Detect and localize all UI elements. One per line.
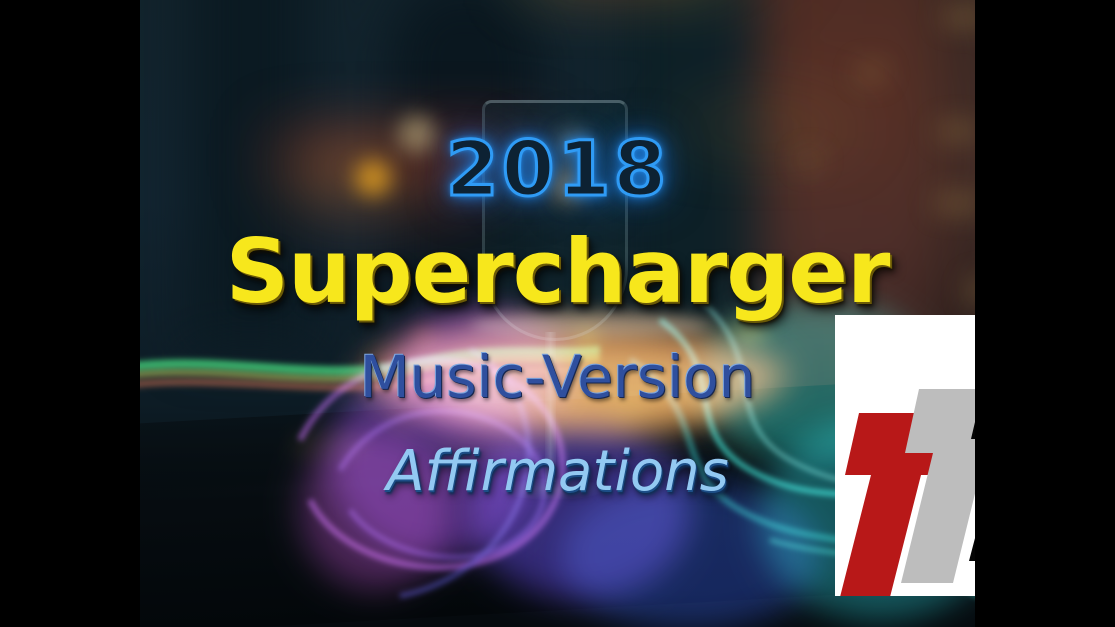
pillarbox-left <box>0 0 140 627</box>
pillarbox-right <box>975 0 1115 627</box>
main-title-text: Supercharger <box>140 228 975 316</box>
year-text: 2018 <box>140 131 975 207</box>
screenshot-root: 2018 Supercharger Music-Version Affirmat… <box>0 0 1115 627</box>
